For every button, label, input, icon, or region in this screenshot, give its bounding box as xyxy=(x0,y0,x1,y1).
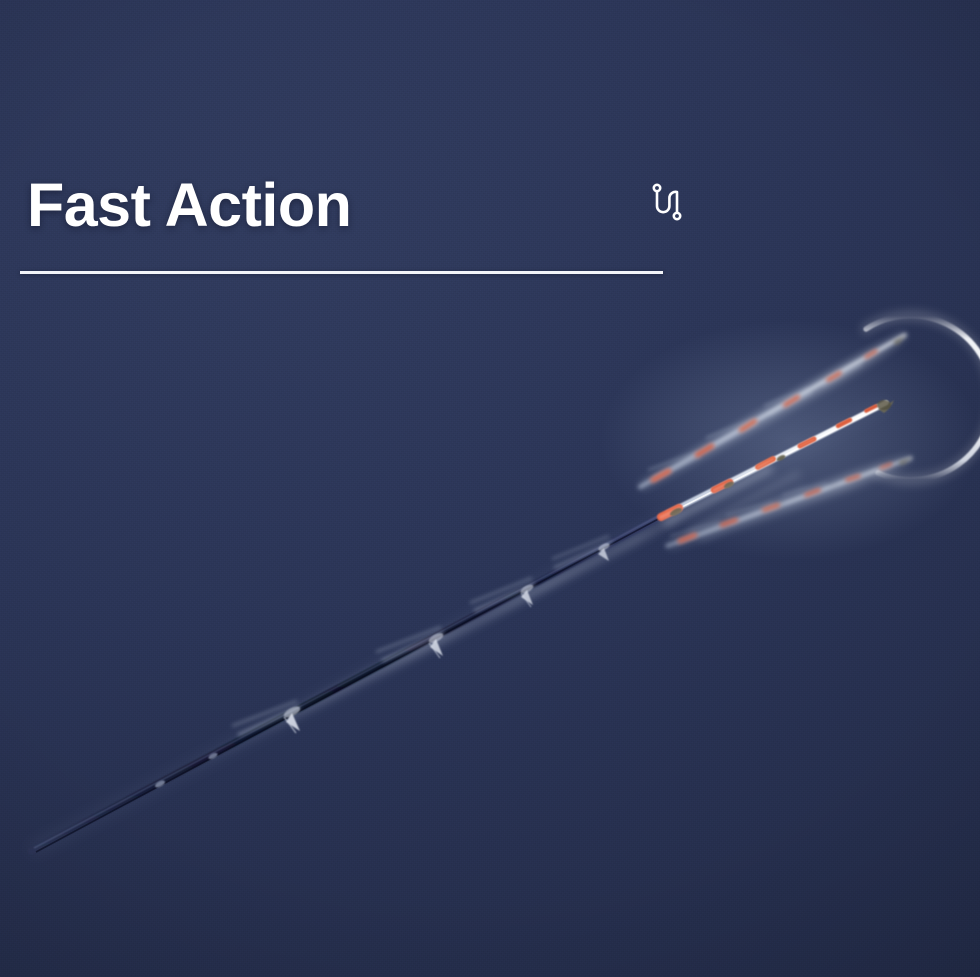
rod-blank-shadow xyxy=(36,516,664,852)
title-row: Fast Action xyxy=(27,166,667,244)
flex-curve-icon xyxy=(650,180,684,224)
main-rod-whiskers xyxy=(232,536,612,735)
product-hero-card: Fast Action xyxy=(0,0,980,977)
rod-main xyxy=(31,400,894,852)
page-title: Fast Action xyxy=(27,175,351,236)
rod-photograph xyxy=(0,0,980,977)
rod-blank-highlight xyxy=(34,512,666,848)
rod-blank xyxy=(31,513,668,851)
title-divider xyxy=(20,271,663,274)
